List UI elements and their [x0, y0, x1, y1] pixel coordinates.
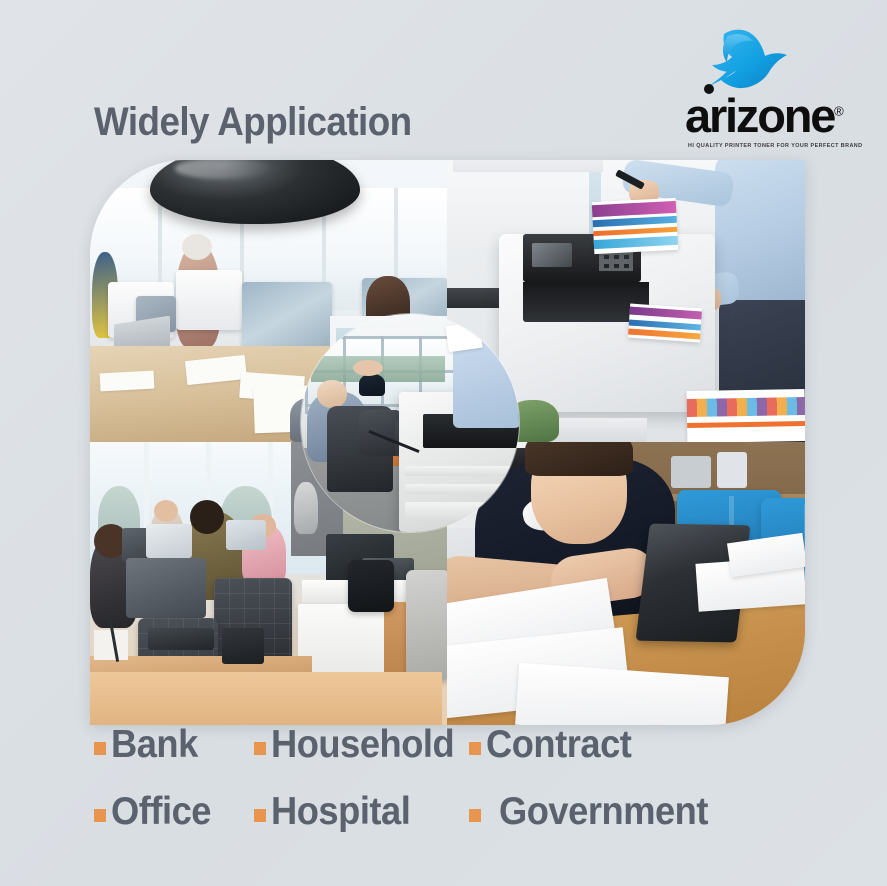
bullet-square-icon [94, 742, 106, 755]
tag-label: Household [271, 725, 454, 764]
tag-bank[interactable]: Bank [94, 725, 254, 764]
photo-center-circle-art [301, 314, 519, 532]
bullet-square-icon [254, 742, 266, 755]
tag-office[interactable]: Office [94, 792, 254, 831]
bullet-square-icon [254, 809, 266, 822]
tag-row-1: Bank Household Contract [94, 725, 834, 792]
tag-household[interactable]: Household [254, 725, 469, 764]
tag-row-2: Office Hospital Government [94, 792, 834, 859]
brand-tagline: HI QUALITY PRINTER TONER FOR YOUR PERFEC… [688, 143, 863, 149]
application-tag-list: Bank Household Contract Office Hospital [94, 725, 834, 859]
brand-wordmark: arizone® [685, 92, 844, 139]
poster-canvas: Widely Application arizone® HI QUALITY P… [0, 0, 887, 886]
bird-icon [693, 26, 801, 96]
photo-center-circle [301, 314, 519, 532]
tag-label: Bank [111, 725, 198, 764]
bullet-square-icon [94, 809, 106, 822]
bullet-square-icon [469, 809, 481, 822]
bullet-square-icon [469, 742, 481, 755]
tag-contract[interactable]: Contract [469, 725, 642, 764]
application-photo-collage [90, 160, 805, 725]
page-title: Widely Application [94, 100, 412, 145]
registered-mark: ® [834, 103, 844, 118]
tag-label: Contract [486, 725, 631, 764]
tag-hospital[interactable]: Hospital [254, 792, 469, 831]
tag-government[interactable]: Government [469, 792, 724, 831]
tag-label: Office [111, 792, 211, 831]
brand-logo: arizone® HI QUALITY PRINTER TONER FOR YO… [685, 26, 835, 136]
brand-name: arizone [685, 89, 834, 142]
tag-label: Hospital [271, 792, 410, 831]
tag-label: Government [499, 792, 708, 831]
